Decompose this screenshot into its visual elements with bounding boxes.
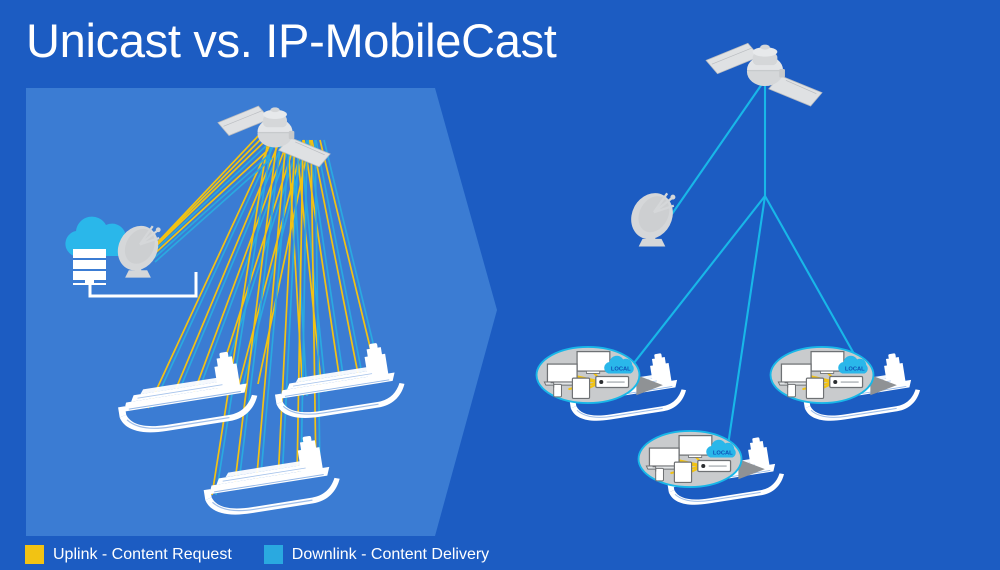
- legend-item-uplink: Uplink - Content Request: [25, 545, 232, 564]
- diagram-canvas: LOCAL: [0, 0, 1000, 570]
- page-title: Unicast vs. IP-MobileCast: [26, 10, 557, 72]
- legend-item-label: Uplink - Content Request: [53, 545, 232, 564]
- square-swatch-icon: [264, 545, 283, 564]
- network-diagram: LOCAL: [0, 0, 1000, 570]
- legend-item-downlink: Downlink - Content Delivery: [264, 545, 489, 564]
- legend: Uplink - Content Request Downlink - Cont…: [25, 545, 489, 564]
- square-swatch-icon: [25, 545, 44, 564]
- server-stack-icon: [73, 249, 106, 285]
- legend-item-label: Downlink - Content Delivery: [292, 545, 489, 564]
